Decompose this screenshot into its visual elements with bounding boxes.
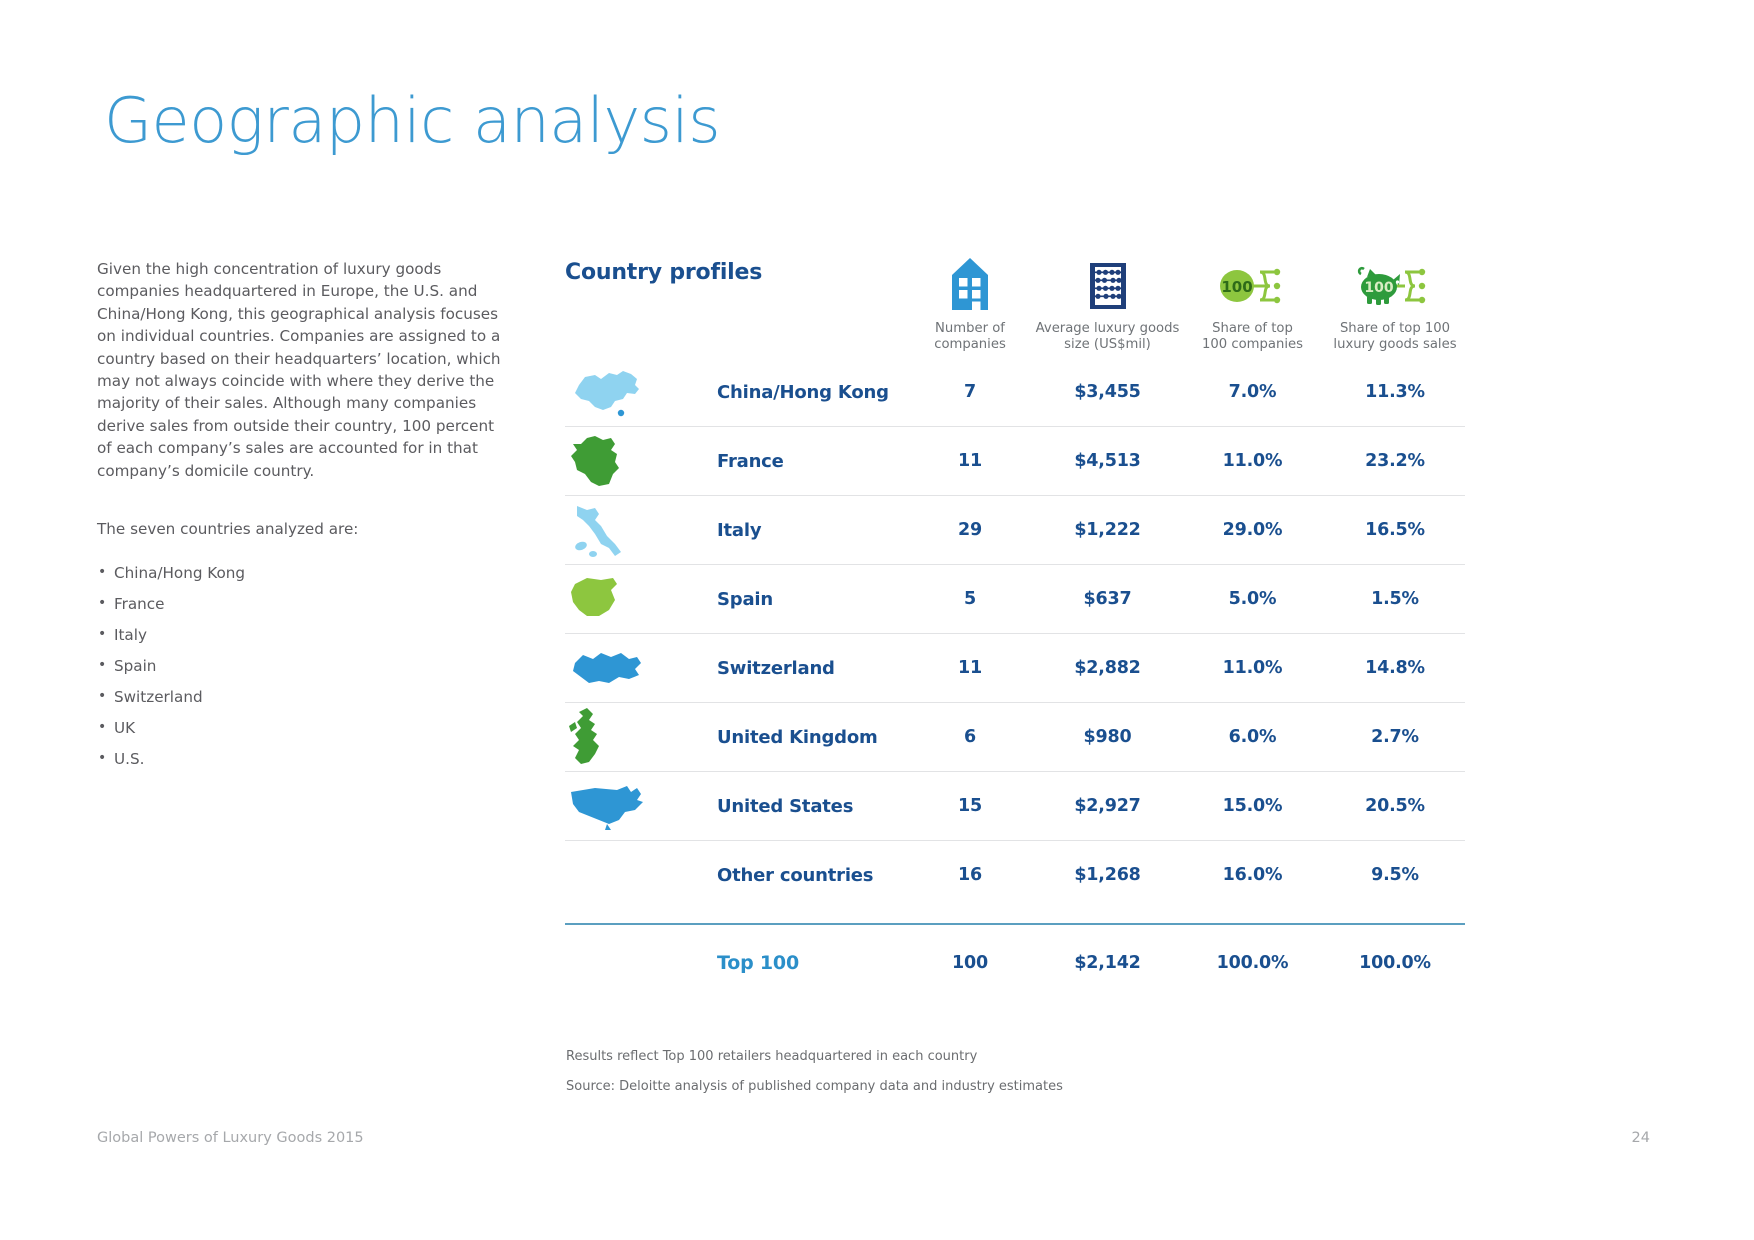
number-of-companies: 6 bbox=[905, 703, 1035, 772]
flag-cell bbox=[565, 427, 673, 496]
average-size: $2,927 bbox=[1035, 772, 1180, 841]
hundred-circle-icon: 100 bbox=[1180, 250, 1325, 312]
number-of-companies: 5 bbox=[905, 565, 1035, 634]
usa-map-icon bbox=[565, 780, 655, 832]
header-share-of-companies: 100 Share of top 100 companies bbox=[1180, 250, 1325, 358]
building-icon bbox=[905, 250, 1035, 312]
note-source: Source: Deloitte analysis of published c… bbox=[566, 1078, 1466, 1095]
total-label: Top 100 bbox=[673, 924, 905, 1001]
flag-cell bbox=[565, 772, 673, 841]
footer-page-number: 24 bbox=[1632, 1130, 1650, 1146]
average-size: $2,882 bbox=[1035, 634, 1180, 703]
table-row: United States 15 $2,927 15.0% 20.5% bbox=[565, 772, 1465, 841]
country-name: Switzerland bbox=[673, 634, 905, 703]
china-map-icon bbox=[565, 363, 649, 421]
table-body: China/Hong Kong 7 $3,455 7.0% 11.3% Fran… bbox=[565, 358, 1465, 1001]
svg-text:100: 100 bbox=[1364, 280, 1393, 296]
header-number-of-companies: Number of companies bbox=[905, 250, 1035, 358]
total-share-of-sales: 100.0% bbox=[1325, 924, 1465, 1001]
header-share-of-sales: 100 Share of top 100 luxury goods sales bbox=[1325, 250, 1465, 358]
list-item: Spain bbox=[97, 655, 509, 677]
table-row: Other countries 16 $1,268 16.0% 9.5% bbox=[565, 841, 1465, 910]
country-name: United Kingdom bbox=[673, 703, 905, 772]
table-row: United Kingdom 6 $980 6.0% 2.7% bbox=[565, 703, 1465, 772]
header-label: Number of companies bbox=[905, 321, 1035, 352]
flag-cell bbox=[565, 924, 673, 1001]
average-size: $1,222 bbox=[1035, 496, 1180, 565]
country-profiles-block: Country profiles bbox=[565, 250, 1465, 1001]
italy-map-icon bbox=[565, 500, 635, 560]
average-size: $4,513 bbox=[1035, 427, 1180, 496]
share-of-sales: 9.5% bbox=[1325, 841, 1465, 910]
country-name: China/Hong Kong bbox=[673, 358, 905, 427]
table-notes: Results reflect Top 100 retailers headqu… bbox=[566, 1048, 1466, 1108]
list-item: Switzerland bbox=[97, 686, 509, 708]
flag-cell bbox=[565, 358, 673, 427]
uk-map-icon bbox=[565, 706, 613, 768]
average-size: $1,268 bbox=[1035, 841, 1180, 910]
share-of-companies: 11.0% bbox=[1180, 634, 1325, 703]
intro-paragraph: Given the high concentration of luxury g… bbox=[97, 258, 509, 482]
svg-text:100: 100 bbox=[1221, 278, 1252, 296]
list-item: France bbox=[97, 593, 509, 615]
share-of-sales: 16.5% bbox=[1325, 496, 1465, 565]
table-row: Switzerland 11 $2,882 11.0% 14.8% bbox=[565, 634, 1465, 703]
number-of-companies: 29 bbox=[905, 496, 1035, 565]
share-of-companies: 6.0% bbox=[1180, 703, 1325, 772]
flag-cell bbox=[565, 841, 673, 910]
flag-cell bbox=[565, 634, 673, 703]
share-of-companies: 16.0% bbox=[1180, 841, 1325, 910]
flag-cell bbox=[565, 496, 673, 565]
table-total-row: Top 100 100 $2,142 100.0% 100.0% bbox=[565, 924, 1465, 1001]
share-of-sales: 14.8% bbox=[1325, 634, 1465, 703]
table-row: China/Hong Kong 7 $3,455 7.0% 11.3% bbox=[565, 358, 1465, 427]
header-average-size: Average luxury goods size (US$mil) bbox=[1035, 250, 1180, 358]
table-row: Italy 29 $1,222 29.0% 16.5% bbox=[565, 496, 1465, 565]
number-of-companies: 11 bbox=[905, 427, 1035, 496]
share-of-companies: 11.0% bbox=[1180, 427, 1325, 496]
share-of-companies: 7.0% bbox=[1180, 358, 1325, 427]
country-name: Other countries bbox=[673, 841, 905, 910]
page-title: Geographic analysis bbox=[104, 84, 720, 157]
number-of-companies: 11 bbox=[905, 634, 1035, 703]
average-size: $3,455 bbox=[1035, 358, 1180, 427]
country-profiles-table: Number of companies bbox=[565, 250, 1465, 1001]
countries-lead-in: The seven countries analyzed are: bbox=[97, 518, 509, 540]
list-item: Italy bbox=[97, 624, 509, 646]
total-number-of-companies: 100 bbox=[905, 924, 1035, 1001]
abacus-icon bbox=[1035, 250, 1180, 312]
note-results: Results reflect Top 100 retailers headqu… bbox=[566, 1048, 1466, 1065]
number-of-companies: 15 bbox=[905, 772, 1035, 841]
list-item: China/Hong Kong bbox=[97, 562, 509, 584]
average-size: $980 bbox=[1035, 703, 1180, 772]
share-of-companies: 5.0% bbox=[1180, 565, 1325, 634]
piggy-bank-icon: 100 bbox=[1325, 250, 1465, 312]
table-row: Spain 5 $637 5.0% 1.5% bbox=[565, 565, 1465, 634]
country-profiles-title: Country profiles bbox=[565, 260, 762, 285]
countries-list: China/Hong Kong France Italy Spain Switz… bbox=[97, 562, 509, 770]
country-name: Spain bbox=[673, 565, 905, 634]
total-average-size: $2,142 bbox=[1035, 924, 1180, 1001]
table-spacer bbox=[565, 909, 1465, 924]
intro-column: Given the high concentration of luxury g… bbox=[97, 258, 509, 779]
share-of-sales: 2.7% bbox=[1325, 703, 1465, 772]
footer-publication: Global Powers of Luxury Goods 2015 bbox=[97, 1130, 364, 1146]
number-of-companies: 7 bbox=[905, 358, 1035, 427]
header-label: Average luxury goods size (US$mil) bbox=[1035, 321, 1180, 352]
header-label: Share of top 100 companies bbox=[1180, 321, 1325, 352]
france-map-icon bbox=[565, 432, 635, 490]
country-name: Italy bbox=[673, 496, 905, 565]
switzerland-map-icon bbox=[565, 645, 649, 691]
share-of-companies: 15.0% bbox=[1180, 772, 1325, 841]
list-item: U.S. bbox=[97, 748, 509, 770]
number-of-companies: 16 bbox=[905, 841, 1035, 910]
share-of-sales: 1.5% bbox=[1325, 565, 1465, 634]
country-name: France bbox=[673, 427, 905, 496]
flag-cell bbox=[565, 565, 673, 634]
total-share-of-companies: 100.0% bbox=[1180, 924, 1325, 1001]
spain-map-icon bbox=[565, 572, 635, 626]
share-of-sales: 20.5% bbox=[1325, 772, 1465, 841]
header-label: Share of top 100 luxury goods sales bbox=[1325, 321, 1465, 352]
flag-cell bbox=[565, 703, 673, 772]
share-of-sales: 23.2% bbox=[1325, 427, 1465, 496]
table-row: France 11 $4,513 11.0% 23.2% bbox=[565, 427, 1465, 496]
list-item: UK bbox=[97, 717, 509, 739]
country-name: United States bbox=[673, 772, 905, 841]
average-size: $637 bbox=[1035, 565, 1180, 634]
share-of-sales: 11.3% bbox=[1325, 358, 1465, 427]
share-of-companies: 29.0% bbox=[1180, 496, 1325, 565]
